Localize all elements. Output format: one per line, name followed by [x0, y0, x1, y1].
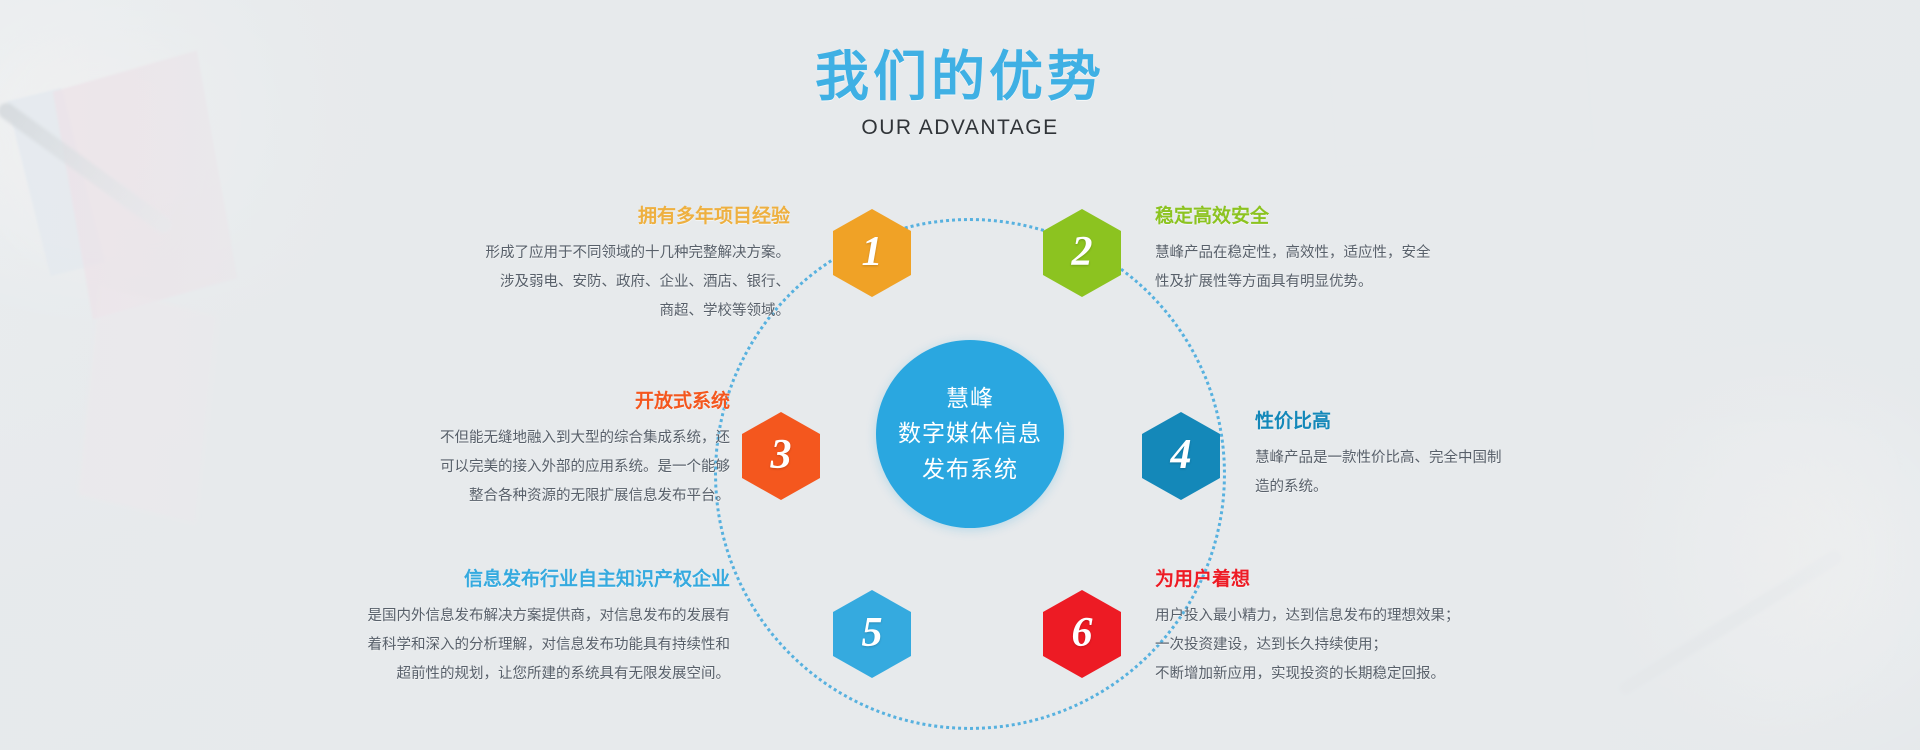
advantage-block-3: 开放式系统 不但能无缝地融入到大型的综合集成系统，还 可以完美的接入外部的应用系…: [330, 390, 730, 511]
advantage-body-6: 用户投入最小精力，达到信息发布的理想效果； 一次投资建设，达到长久持续使用； 不…: [1155, 602, 1625, 689]
page-title-chinese: 我们的优势: [0, 46, 1920, 108]
advantage-body-3: 不但能无缝地融入到大型的综合集成系统，还 可以完美的接入外部的应用系统。是一个能…: [330, 424, 730, 511]
advantage-body-2: 慧峰产品在稳定性，高效性，适应性，安全 性及扩展性等方面具有明显优势。: [1155, 239, 1625, 297]
advantage-body-4: 慧峰产品是一款性价比高、完全中国制 造的系统。: [1255, 444, 1675, 502]
advantage-title-4: 性价比高: [1255, 410, 1675, 435]
center-line-3: 发布系统: [922, 452, 1018, 488]
advantage-block-6: 为用户着想 用户投入最小精力，达到信息发布的理想效果； 一次投资建设，达到长久持…: [1155, 568, 1625, 689]
advantage-title-3: 开放式系统: [330, 390, 730, 415]
advantage-block-5: 信息发布行业自主知识产权企业 是国内外信息发布解决方案提供商，对信息发布的发展有…: [330, 568, 730, 689]
advantage-title-1: 拥有多年项目经验: [330, 205, 790, 230]
page-title-english: OUR ADVANTAGE: [0, 116, 1920, 140]
hexagon-number-6: 6: [1072, 609, 1093, 657]
center-circle: 慧峰 数字媒体信息 发布系统: [876, 340, 1064, 528]
advantage-block-1: 拥有多年项目经验 形成了应用于不同领域的十几种完整解决方案。 涉及弱电、安防、政…: [330, 205, 790, 326]
hexagon-number-4: 4: [1171, 431, 1192, 479]
advantage-title-5: 信息发布行业自主知识产权企业: [330, 568, 730, 593]
hexagon-number-5: 5: [862, 609, 883, 657]
advantage-title-2: 稳定高效安全: [1155, 205, 1625, 230]
hexagon-number-3: 3: [771, 431, 792, 479]
page-header: 我们的优势 OUR ADVANTAGE: [0, 46, 1920, 140]
hexagon-number-2: 2: [1072, 228, 1093, 276]
center-line-2: 数字媒体信息: [898, 416, 1042, 452]
center-line-1: 慧峰: [946, 381, 994, 417]
advantage-title-6: 为用户着想: [1155, 568, 1625, 593]
hexagon-number-1: 1: [862, 228, 883, 276]
advantage-block-2: 稳定高效安全 慧峰产品在稳定性，高效性，适应性，安全 性及扩展性等方面具有明显优…: [1155, 205, 1625, 297]
advantage-body-1: 形成了应用于不同领域的十几种完整解决方案。 涉及弱电、安防、政府、企业、酒店、银…: [330, 239, 790, 326]
advantage-body-5: 是国内外信息发布解决方案提供商，对信息发布的发展有 着科学和深入的分析理解，对信…: [330, 602, 730, 689]
advantage-block-4: 性价比高 慧峰产品是一款性价比高、完全中国制 造的系统。: [1255, 410, 1675, 502]
